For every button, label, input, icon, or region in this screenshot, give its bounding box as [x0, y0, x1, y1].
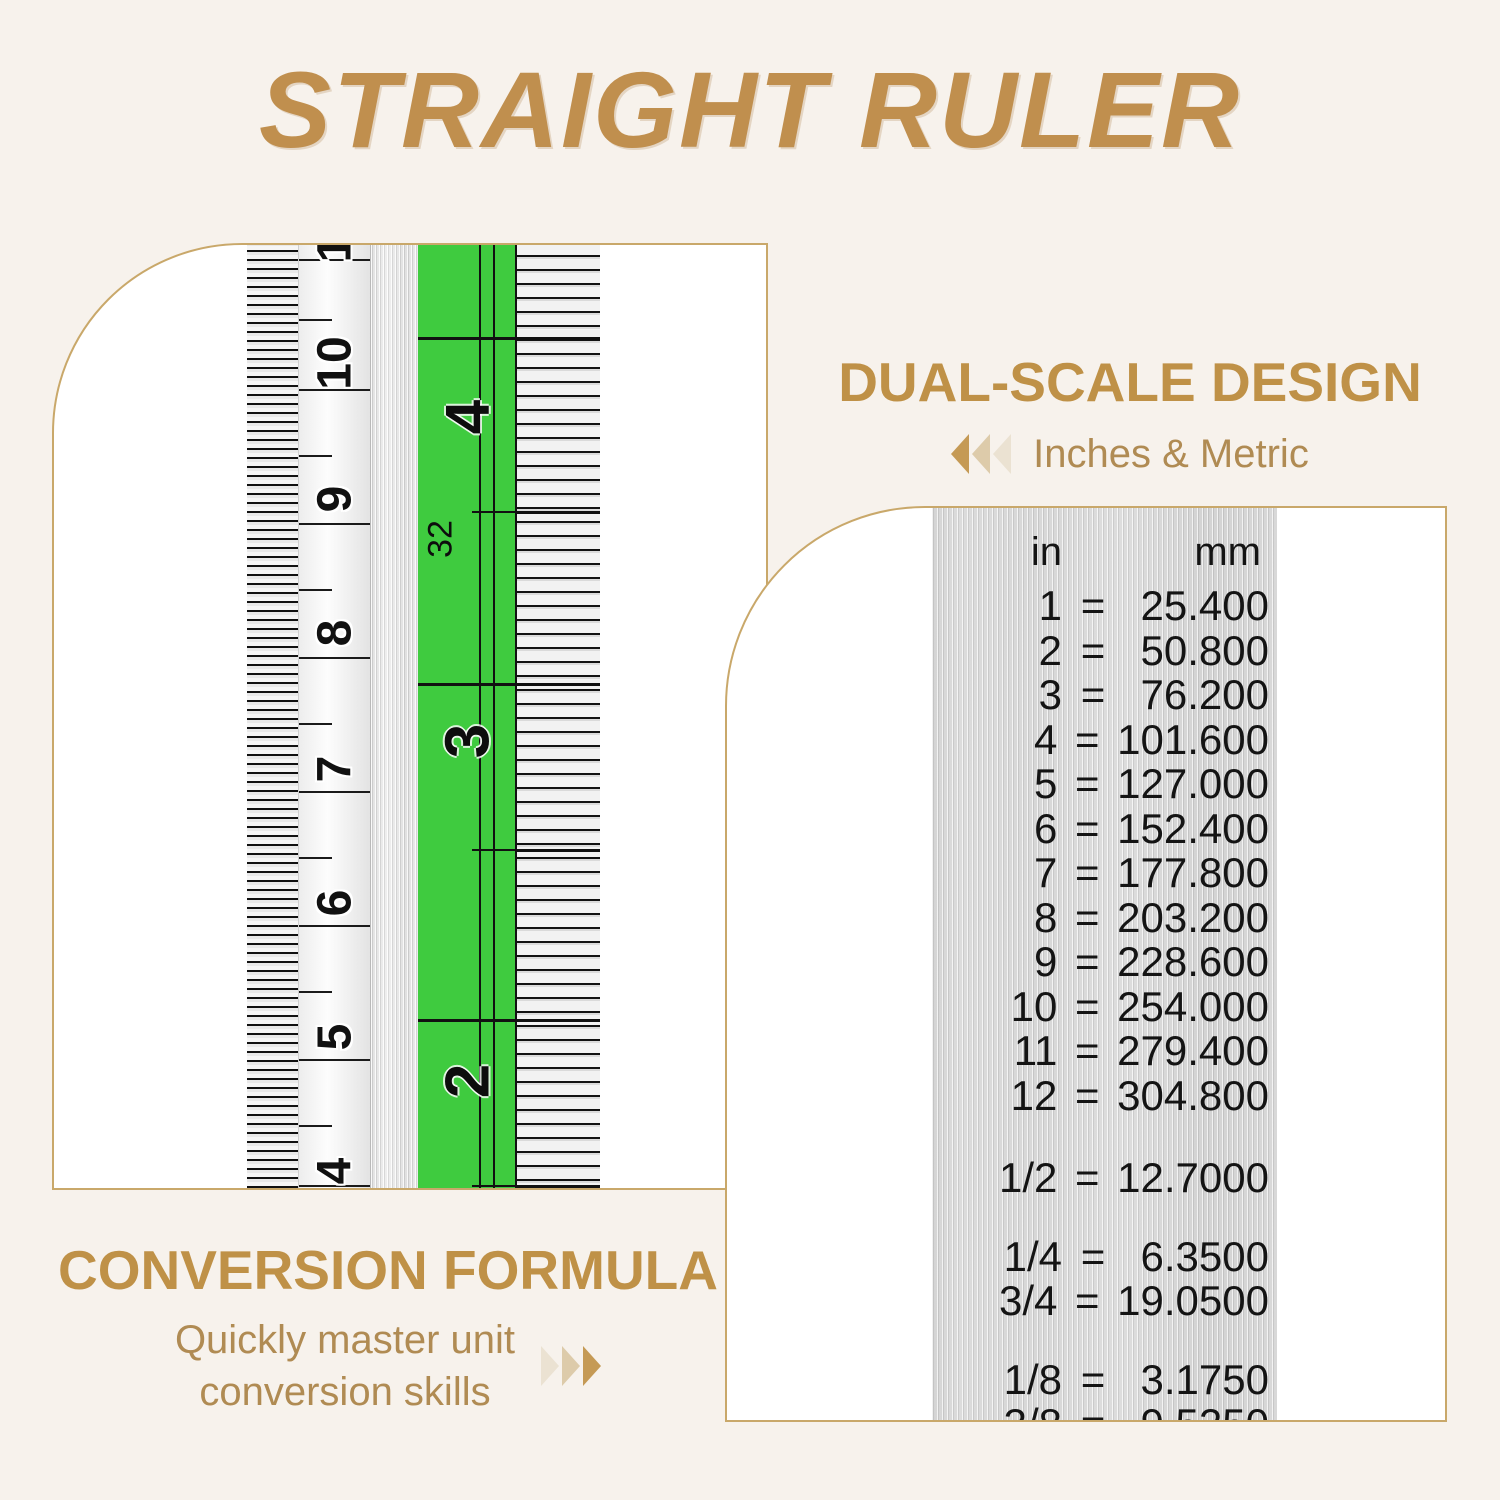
chevron-left-icon: [951, 434, 969, 474]
ruler-photo-card: 11 10 9 8 7 6 5 4 4 32 3 2: [52, 243, 768, 1190]
conversion-row: 9=228.600: [932, 940, 1277, 985]
conversion-formula-subtitle: Quickly master unit conversion skills: [175, 1314, 515, 1418]
conversion-inch-value: 3/4: [932, 1279, 1057, 1324]
conversion-mm-value: 279.400: [1117, 1029, 1277, 1074]
conversion-row: 6=152.400: [932, 807, 1277, 852]
conversion-inch-value: 3/8: [932, 1402, 1062, 1422]
dual-scale-heading: DUAL-SCALE DESIGN: [830, 350, 1430, 414]
conversion-inch-value: 4: [932, 718, 1057, 763]
metric-number: 4: [307, 1158, 362, 1185]
conversion-row: 3=76.200: [932, 673, 1277, 718]
table-group-gap: [932, 1201, 1277, 1235]
inch-number: 3: [433, 724, 504, 758]
eighth-inch-rows: 1/8=3.17503/8=9.52505/8=15.8750: [932, 1358, 1277, 1422]
conversion-row: 12=304.800: [932, 1074, 1277, 1119]
equals-sign: =: [1057, 851, 1117, 896]
equals-sign: =: [1057, 940, 1117, 985]
conversion-row: 11=279.400: [932, 1029, 1277, 1074]
page-title: STRAIGHT RULER: [0, 52, 1500, 169]
table-group-gap: [932, 1324, 1277, 1358]
conversion-inch-value: 1/8: [932, 1358, 1062, 1403]
chevron-left-group: [951, 434, 1011, 474]
conversion-row: 1/4=6.3500: [932, 1235, 1277, 1280]
conversion-inch-value: 3: [932, 673, 1062, 718]
feature-conversion-formula: CONVERSION FORMULA Quickly master unit c…: [48, 1238, 728, 1418]
equals-sign: =: [1062, 584, 1124, 629]
conversion-row: 1=25.400: [932, 584, 1277, 629]
metric-number: 11: [307, 243, 362, 262]
conversion-mm-value: 203.200: [1117, 896, 1277, 941]
equals-sign: =: [1062, 1402, 1124, 1422]
conversion-table-photo: in mm 1=25.4002=50.8003=76.2004=101.6005…: [932, 508, 1277, 1422]
conversion-inch-value: 1/4: [932, 1235, 1062, 1280]
conversion-inch-value: 12: [932, 1074, 1057, 1119]
equals-sign: =: [1057, 1279, 1117, 1324]
conversion-mm-value: 9.5250: [1124, 1402, 1277, 1422]
green-inch-band: 4 32 3 2: [418, 243, 517, 1190]
conversion-row: 2=50.800: [932, 629, 1277, 674]
table-group-gap: [932, 1118, 1277, 1156]
quarter-inch-rows: 1/4=6.35003/4=19.0500: [932, 1235, 1277, 1324]
equals-sign: =: [1062, 673, 1124, 718]
conversion-mm-value: 152.400: [1117, 807, 1277, 852]
conversion-subtitle-line2: conversion skills: [199, 1370, 490, 1414]
conversion-mm-value: 76.200: [1124, 673, 1277, 718]
conversion-mm-value: 304.800: [1117, 1074, 1277, 1119]
conversion-inch-value: 5: [932, 762, 1057, 807]
conversion-inch-value: 8: [932, 896, 1057, 941]
conversion-mm-value: 127.000: [1117, 762, 1277, 807]
conversion-mm-value: 25.400: [1124, 584, 1277, 629]
conversion-inch-value: 10: [932, 985, 1057, 1030]
conversion-row: 1/2=12.7000: [932, 1156, 1277, 1201]
equals-sign: =: [1057, 1029, 1117, 1074]
metric-number: 7: [307, 756, 362, 783]
column-header-in: in: [932, 532, 1062, 572]
conversion-mm-value: 101.600: [1117, 718, 1277, 763]
conversion-row: 7=177.800: [932, 851, 1277, 896]
feature-dual-scale: DUAL-SCALE DESIGN Inches & Metric: [830, 350, 1430, 480]
conversion-mm-value: 177.800: [1117, 851, 1277, 896]
inch-tick-column: [517, 243, 600, 1190]
conversion-subtitle-line1: Quickly master unit: [175, 1318, 515, 1362]
metric-number: 8: [307, 620, 362, 647]
equals-sign: =: [1057, 762, 1117, 807]
conversion-inch-value: 7: [932, 851, 1057, 896]
conversion-mm-value: 3.1750: [1124, 1358, 1277, 1403]
conversion-inch-value: 1/2: [932, 1156, 1057, 1201]
metric-number-column: 11 10 9 8 7 6 5 4: [299, 243, 370, 1190]
inch-subdivision-label: 32: [422, 520, 461, 558]
conversion-mm-value: 6.3500: [1124, 1235, 1277, 1280]
metric-number: 5: [307, 1024, 362, 1051]
equals-sign: =: [1057, 1156, 1117, 1201]
conversion-formula-heading: CONVERSION FORMULA: [48, 1238, 728, 1302]
equals-sign: =: [1057, 896, 1117, 941]
equals-sign: =: [1057, 1074, 1117, 1119]
half-inch-rows: 1/2=12.7000: [932, 1156, 1277, 1201]
conversion-mm-value: 50.800: [1124, 629, 1277, 674]
equals-sign: =: [1062, 629, 1124, 674]
ruler-photo: 11 10 9 8 7 6 5 4 4 32 3 2: [247, 243, 600, 1190]
conversion-inch-value: 6: [932, 807, 1057, 852]
metric-number: 6: [307, 890, 362, 917]
chevron-right-icon: [562, 1346, 580, 1386]
conversion-row: 4=101.600: [932, 718, 1277, 763]
equals-sign: =: [1062, 1358, 1124, 1403]
chevron-right-icon: [583, 1346, 601, 1386]
whole-inch-rows: 1=25.4002=50.8003=76.2004=101.6005=127.0…: [932, 584, 1277, 1118]
equals-sign: =: [1057, 985, 1117, 1030]
conversion-row: 3/4=19.0500: [932, 1279, 1277, 1324]
equals-sign: =: [1057, 718, 1117, 763]
equals-sign: =: [1062, 1235, 1124, 1280]
conversion-inch-value: 2: [932, 629, 1062, 674]
conversion-inch-value: 9: [932, 940, 1057, 985]
chevron-left-icon: [993, 434, 1011, 474]
equals-sign: =: [1057, 807, 1117, 852]
conversion-inch-value: 1: [932, 584, 1062, 629]
metric-number: 9: [307, 486, 362, 513]
conversion-mm-value: 19.0500: [1117, 1279, 1277, 1324]
chevron-left-icon: [972, 434, 990, 474]
metric-tick-column: [247, 243, 299, 1190]
chevron-right-group: [541, 1346, 601, 1386]
chevron-right-icon: [541, 1346, 559, 1386]
conversion-mm-value: 254.000: [1117, 985, 1277, 1030]
conversion-row: 10=254.000: [932, 985, 1277, 1030]
column-header-mm: mm: [1124, 532, 1277, 572]
conversion-mm-value: 228.600: [1117, 940, 1277, 985]
conversion-row: 8=203.200: [932, 896, 1277, 941]
conversion-row: 5=127.000: [932, 762, 1277, 807]
metric-number: 10: [307, 336, 362, 389]
inch-number: 2: [433, 1064, 504, 1098]
inch-number: 4: [433, 400, 504, 434]
dual-scale-subtitle: Inches & Metric: [1033, 428, 1309, 480]
header-spacer: [1062, 532, 1124, 572]
conversion-row: 1/8=3.1750: [932, 1358, 1277, 1403]
conversion-table-header-row: in mm: [932, 532, 1277, 584]
ruler-brushed-surface: [371, 243, 418, 1190]
conversion-mm-value: 12.7000: [1117, 1156, 1277, 1201]
conversion-table-card: in mm 1=25.4002=50.8003=76.2004=101.6005…: [725, 506, 1447, 1422]
conversion-row: 3/8=9.5250: [932, 1402, 1277, 1422]
conversion-inch-value: 11: [932, 1029, 1057, 1074]
